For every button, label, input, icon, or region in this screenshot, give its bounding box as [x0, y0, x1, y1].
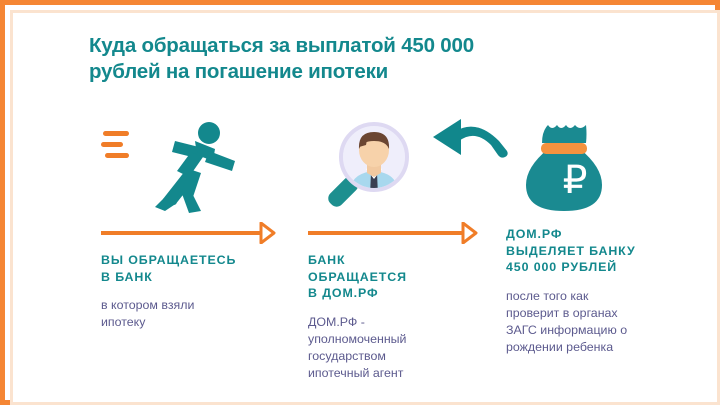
step-2-description-line-4: ипотечный агент — [308, 365, 498, 382]
step-3-description-line-4: рождении ребенка — [506, 339, 706, 356]
step-2-description-line-1: ДОМ.РФ - — [308, 314, 498, 331]
step-1-heading-line-1: ВЫ ОБРАЩАЕТЕСЬ — [101, 252, 296, 269]
step-3-description-line-2: проверит в органах — [506, 305, 706, 322]
curved-arrow-left-icon — [423, 111, 513, 171]
step-1-description-line-1: в котором взяли — [101, 297, 296, 314]
running-person-icon — [101, 113, 296, 218]
step-3-heading-line-2: ВЫДЕЛЯЕТ БАНКУ — [506, 243, 706, 260]
step-3-description: после того как проверит в органах ЗАГС и… — [506, 288, 706, 356]
step-2-description-line-2: уполномоченный — [308, 331, 498, 348]
step-2-heading-line-3: В ДОМ.РФ — [308, 285, 498, 302]
step-3-heading-line-1: ДОМ.РФ — [506, 226, 706, 243]
page-title-line-2: рублей на погашение ипотеки — [89, 59, 629, 85]
step-1: ВЫ ОБРАЩАЕТЕСЬ В БАНК в котором взяли ип… — [101, 113, 296, 331]
infographic-canvas: Куда обращаться за выплатой 450 000 рубл… — [13, 13, 717, 402]
step-1-heading: ВЫ ОБРАЩАЕТЕСЬ В БАНК — [101, 252, 296, 285]
step-2-heading: БАНК ОБРАЩАЕТСЯ В ДОМ.РФ — [308, 252, 498, 302]
step-2-description-line-3: государством — [308, 348, 498, 365]
step-1-heading-line-2: В БАНК — [101, 269, 296, 286]
step-1-description: в котором взяли ипотеку — [101, 297, 296, 331]
step-3-heading: ДОМ.РФ ВЫДЕЛЯЕТ БАНКУ 450 000 РУБЛЕЙ — [506, 226, 706, 276]
step-2-heading-line-1: БАНК — [308, 252, 498, 269]
arrow-step-2-to-3 — [308, 220, 498, 246]
page-title-line-1: Куда обращаться за выплатой 450 000 — [89, 33, 629, 59]
page-title: Куда обращаться за выплатой 450 000 рубл… — [89, 33, 629, 85]
money-bag-icon: ₽ — [506, 113, 706, 218]
infographic-frame: Куда обращаться за выплатой 450 000 рубл… — [0, 0, 720, 405]
arrow-step-1-to-2 — [101, 220, 296, 246]
step-2-heading-line-2: ОБРАЩАЕТСЯ — [308, 269, 498, 286]
step-3: ₽ ДОМ.РФ ВЫДЕЛЯЕТ БАНКУ 450 000 РУБЛЕЙ п… — [506, 113, 706, 356]
step-2-description: ДОМ.РФ - уполномоченный государством ипо… — [308, 314, 498, 382]
step-3-description-line-1: после того как — [506, 288, 706, 305]
step-3-description-line-3: ЗАГС информацию о — [506, 322, 706, 339]
step-3-heading-line-3: 450 000 РУБЛЕЙ — [506, 259, 706, 276]
ruble-symbol: ₽ — [547, 161, 603, 200]
step-1-description-line-2: ипотеку — [101, 314, 296, 331]
